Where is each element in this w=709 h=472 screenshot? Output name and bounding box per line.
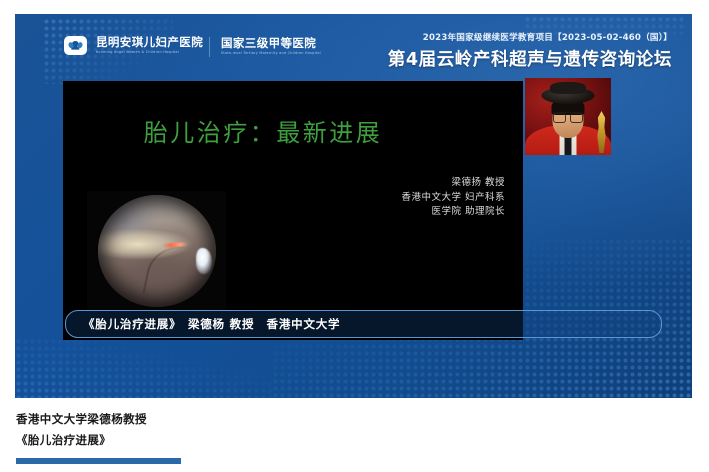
slide-title: 胎儿治疗：最新进展 xyxy=(63,113,463,148)
event-program-code: 2023年国家级继续医学教育项目【2023-05-02-460（国）】 xyxy=(388,31,672,43)
fetoscopy-instrument-tip xyxy=(196,248,212,274)
accent-rule xyxy=(16,458,181,464)
session-caption-bar: 《胎儿治疗进展》 梁德杨 教授 香港中文大学 xyxy=(65,310,662,338)
fetoscopy-image xyxy=(87,191,226,310)
dot-pattern-bottom-left-icon xyxy=(15,338,275,398)
event-title: 第4届云岭产科超声与遗传咨询论坛 xyxy=(388,46,672,71)
hospital-grade-badge: 国家三级甲等医院 State-level Tertiary Maternity … xyxy=(221,38,321,55)
portrait-glasses-icon xyxy=(553,112,583,122)
portrait-tam-crown xyxy=(550,82,586,94)
presentation-slide: 胎儿治疗：最新进展 梁德扬 教授 香港中文大学 妇产科系 医学院 助理院长 xyxy=(63,81,523,340)
slide-speaker-department: 香港中文大学 妇产科系 xyxy=(401,191,505,206)
hospital-name-en: Kunming Angel Women & Children Hospital xyxy=(96,51,203,55)
slide-speaker-info: 梁德扬 教授 香港中文大学 妇产科系 医学院 助理院长 xyxy=(401,176,505,220)
logo-divider xyxy=(209,37,210,57)
event-title-group: 2023年国家级继续医学教育项目【2023-05-02-460（国）】 第4届云… xyxy=(388,31,672,71)
hospital-grade-cn: 国家三级甲等医院 xyxy=(221,38,321,50)
hospital-name-cn: 昆明安琪儿妇产医院 xyxy=(96,37,203,49)
article-caption-line1: 香港中文大学梁德杨教授 xyxy=(16,409,147,430)
speaker-portrait xyxy=(525,78,611,155)
conference-banner: 昆明安琪儿妇产医院 Kunming Angel Women & Children… xyxy=(15,14,692,398)
article-caption: 香港中文大学梁德杨教授 《胎儿治疗进展》 xyxy=(16,409,147,452)
slide-speaker-name: 梁德扬 教授 xyxy=(401,176,505,191)
slide-speaker-role: 医学院 助理院长 xyxy=(401,205,505,220)
banner-header: 昆明安琪儿妇产医院 Kunming Angel Women & Children… xyxy=(15,14,692,76)
session-caption-text: 《胎儿治疗进展》 梁德杨 教授 香港中文大学 xyxy=(83,316,340,332)
article-caption-line2: 《胎儿治疗进展》 xyxy=(16,430,147,451)
hospital-grade-en: State-level Tertiary Maternity and Child… xyxy=(221,52,321,56)
angel-logo-icon xyxy=(64,36,87,55)
hospital-logo-text: 昆明安琪儿妇产医院 Kunming Angel Women & Children… xyxy=(96,37,203,54)
hospital-logo: 昆明安琪儿妇产医院 Kunming Angel Women & Children… xyxy=(64,36,203,55)
